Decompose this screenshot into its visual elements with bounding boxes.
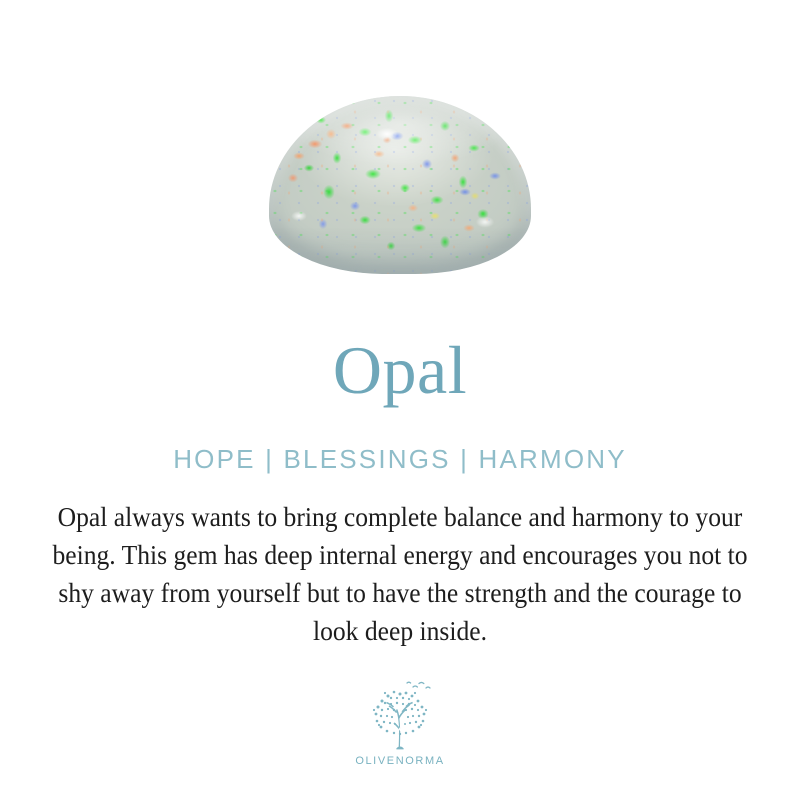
opal-speckle-layer (269, 96, 531, 274)
gem-image-container (0, 96, 800, 296)
opal-cabochon-image (269, 96, 531, 274)
gemstone-info-card: Opal HOPE | BLESSINGS | HARMONY Opal alw… (0, 0, 800, 800)
brand-logo: OLIVENORMA (0, 678, 800, 767)
tree-of-life-icon (358, 678, 442, 752)
keyword-tagline: HOPE | BLESSINGS | HARMONY (0, 445, 800, 474)
description-paragraph: Opal always wants to bring complete bala… (52, 498, 748, 650)
page-title: Opal (0, 336, 800, 404)
gem-stage (269, 96, 531, 278)
brand-wordmark: OLIVENORMA (355, 755, 444, 767)
